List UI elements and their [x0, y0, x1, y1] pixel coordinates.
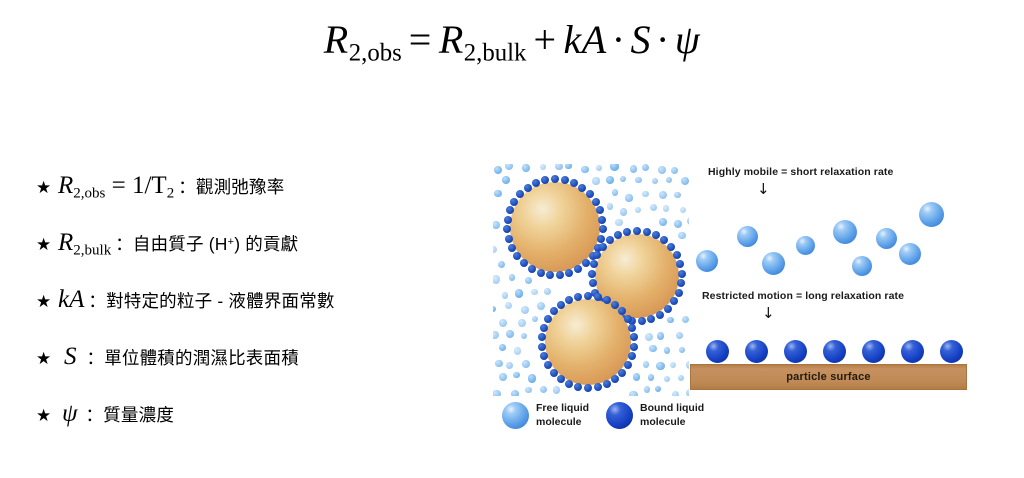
free-liquid-molecule-dot — [565, 164, 571, 169]
bound-liquid-molecule-dot — [540, 324, 548, 332]
bound-liquid-molecule-dot — [561, 176, 569, 184]
free-liquid-molecule-dot — [679, 347, 685, 353]
figure-legend: Free liquid molecule Bound liquid molecu… — [498, 398, 738, 446]
bound-liquid-molecule — [901, 340, 924, 363]
bound-liquid-molecule-dot — [594, 293, 602, 301]
free-liquid-molecule — [762, 252, 785, 275]
list-item-symbol: ψ — [58, 400, 82, 428]
bound-liquid-molecule — [745, 340, 768, 363]
free-liquid-molecule-dot — [682, 316, 689, 323]
list-item-symbol: S — [58, 343, 83, 371]
bound-liquid-molecule-dot — [670, 297, 678, 305]
free-liquid-molecule-dot — [666, 177, 673, 184]
free-liquid-molecule-dot — [687, 217, 689, 225]
bound-liquid-molecule-dot — [606, 236, 614, 244]
bound-liquid-molecule-dot — [630, 343, 638, 351]
free-liquid-molecule-dot — [642, 191, 649, 198]
free-liquid-molecule-dot — [506, 330, 514, 338]
list-item: ★ S ：單位體積的潤濕比表面積 — [36, 343, 486, 400]
list-item-description: ：質量濃度 — [86, 402, 175, 427]
free-liquid-molecule-dot — [670, 362, 676, 368]
free-liquid-molecule-dot — [525, 387, 532, 394]
bound-liquid-molecule-dot — [660, 236, 668, 244]
symbol-tail-subscript: 2 — [167, 186, 175, 202]
free-liquid-molecule-dot — [635, 177, 641, 183]
bound-molecule-icon — [606, 402, 633, 429]
bound-liquid-molecule-dot — [574, 265, 582, 273]
free-liquid-molecule-dot — [659, 218, 667, 226]
free-liquid-molecule-dot — [493, 390, 501, 396]
free-liquid-molecule-dot — [515, 289, 523, 297]
free-liquid-molecule-dot — [663, 205, 670, 212]
free-liquid-molecule-dot — [518, 319, 526, 327]
bound-liquid-molecule-dot — [618, 369, 626, 377]
bound-liquid-molecule-dot — [551, 175, 559, 183]
free-liquid-molecule-dot — [531, 289, 537, 295]
free-liquid-molecule-dot — [528, 374, 536, 382]
bullet-star-icon: ★ — [36, 293, 58, 310]
free-liquid-molecule-dot — [676, 332, 684, 340]
bound-liquid-molecule-dot — [673, 251, 681, 259]
free-liquid-molecule-dot — [674, 220, 682, 228]
bound-liquid-molecule-dot — [599, 243, 607, 251]
bound-liquid-molecule-dot — [597, 235, 605, 243]
equation-lhs-subscript: 2,obs — [349, 39, 402, 66]
free-liquid-molecule-dot — [532, 316, 538, 322]
free-liquid-molecule-dot — [581, 166, 588, 173]
list-item: ★ ψ ：質量濃度 — [36, 400, 486, 457]
equation-term-s: S — [631, 17, 652, 62]
bound-liquid-molecule-dot — [513, 252, 521, 260]
free-liquid-molecule-dot — [686, 389, 689, 396]
free-liquid-molecule-dot — [540, 164, 546, 170]
description-pre: ：自由質子 (H — [115, 234, 227, 254]
free-liquid-molecule-dot — [555, 164, 563, 170]
description-post: ) 的貢獻 — [234, 234, 298, 254]
particle-surface-bar: particle surface — [690, 364, 967, 390]
list-item-symbol: R2,obs = 1/T2 — [58, 172, 174, 203]
bound-liquid-molecule-dot — [664, 305, 672, 313]
bound-liquid-molecule-dot — [510, 198, 518, 206]
free-liquid-molecule-dot — [514, 347, 522, 355]
free-liquid-molecule-dot — [652, 178, 658, 184]
free-liquid-molecule-dot — [625, 194, 632, 201]
free-liquid-molecule-dot — [494, 166, 502, 174]
list-item-description: ：單位體積的潤濕比表面積 — [87, 345, 299, 370]
free-liquid-molecule-dot — [493, 306, 496, 312]
list-item: ★ R2,bulk ：自由質子 (H+) 的貢獻 — [36, 229, 486, 286]
free-liquid-molecule-dot — [644, 386, 650, 392]
free-liquid-molecule-dot — [525, 277, 532, 284]
bound-liquid-molecule-dot — [528, 265, 536, 273]
free-liquid-molecule-dot — [648, 374, 655, 381]
bound-liquid-molecule-dot — [578, 184, 586, 192]
bound-liquid-molecule-dot — [598, 216, 606, 224]
free-liquid-molecule-dot — [657, 332, 664, 339]
bound-liquid-molecule-dot — [557, 301, 565, 309]
free-liquid-molecule-dot — [633, 373, 641, 381]
free-liquid-molecule-dot — [674, 192, 680, 198]
bound-liquid-molecule-dot — [584, 292, 592, 300]
list-item-description: ：自由質子 (H+) 的貢獻 — [115, 231, 298, 256]
bound-liquid-molecule-dot — [676, 260, 684, 268]
down-arrow-icon-mobile: ↓ — [757, 182, 770, 197]
free-liquid-molecule-dot — [540, 386, 547, 393]
bound-liquid-molecule — [940, 340, 963, 363]
free-liquid-molecule-dot — [656, 362, 664, 370]
symbol-tail: = 1/T — [105, 172, 166, 199]
free-liquid-molecule-dot — [664, 347, 671, 354]
bound-liquid-molecule-dot — [630, 333, 638, 341]
bound-liquid-molecule-dot — [628, 324, 636, 332]
bound-liquid-molecule-dot — [638, 317, 646, 325]
free-liquid-molecule — [796, 236, 815, 255]
highly-mobile-caption: Highly mobile = short relaxation rate — [708, 166, 893, 178]
bound-liquid-molecule — [823, 340, 846, 363]
bound-liquid-molecule-dot — [550, 369, 558, 377]
bound-liquid-molecule-dot — [546, 271, 554, 279]
bound-liquid-molecule — [706, 340, 729, 363]
list-item-symbol: kA — [58, 286, 84, 314]
symbol-subscript: 2,bulk — [73, 243, 111, 259]
free-liquid-molecule-dot — [630, 165, 638, 173]
free-liquid-molecule-dot — [681, 177, 689, 185]
restricted-motion-caption: Restricted motion = long relaxation rate — [702, 290, 904, 302]
free-liquid-molecule-dot — [499, 319, 507, 327]
free-liquid-molecule — [696, 250, 718, 272]
equation-term-psi: ψ — [675, 17, 700, 62]
free-liquid-molecule — [876, 228, 897, 249]
symbol-variable: R — [58, 229, 73, 256]
equation-rhs-variable: R — [439, 17, 464, 62]
equation-dot-operator-2: · — [651, 17, 675, 62]
free-liquid-molecule-dot — [495, 360, 503, 368]
bound-liquid-molecule-dot — [643, 228, 651, 236]
free-liquid-molecule — [852, 256, 872, 276]
bound-liquid-molecule-dot — [565, 380, 573, 388]
bound-liquid-molecule-dot — [647, 315, 655, 323]
bound-liquid-molecule-dot — [589, 279, 597, 287]
free-liquid-molecule-dot — [494, 190, 502, 198]
free-liquid-molecule-dot — [649, 345, 657, 353]
list-item-symbol: R2,bulk — [58, 229, 111, 260]
free-liquid-molecule — [833, 220, 857, 244]
free-liquid-molecule-dot — [493, 246, 497, 253]
free-liquid-molecule-dot — [606, 176, 614, 184]
free-liquid-molecule-dot — [522, 164, 529, 171]
free-liquid-molecule-dot — [499, 373, 506, 380]
bound-liquid-molecule-dot — [544, 361, 552, 369]
legend-label-bound: Bound liquid molecule — [640, 402, 704, 429]
free-liquid-molecule-dot — [607, 203, 614, 210]
free-liquid-molecule-dot — [635, 207, 641, 213]
free-liquid-molecule-dot — [498, 261, 505, 268]
free-liquid-molecule-dot — [678, 375, 684, 381]
bound-liquid-molecule-dot — [594, 383, 602, 391]
bound-liquid-molecule-dot — [520, 259, 528, 267]
bullet-star-icon: ★ — [36, 236, 58, 253]
bound-liquid-molecule-dot — [667, 243, 675, 251]
free-liquid-molecule-dot — [655, 386, 661, 392]
bound-liquid-molecule-dot — [540, 352, 548, 360]
free-liquid-molecule-dot — [506, 362, 513, 369]
free-liquid-molecule-dot — [505, 164, 513, 170]
bound-liquid-molecule-dot — [675, 289, 683, 297]
bound-liquid-molecule-dot — [603, 296, 611, 304]
free-liquid-molecule-dot — [544, 288, 551, 295]
free-liquid-molecule — [737, 226, 758, 247]
bullet-star-icon: ★ — [36, 179, 58, 196]
free-liquid-molecule-dot — [612, 189, 619, 196]
bound-liquid-molecule-dot — [550, 307, 558, 315]
bound-liquid-molecule-dot — [532, 179, 540, 187]
free-liquid-molecule-dot — [493, 221, 500, 229]
free-liquid-molecule-dot — [511, 390, 519, 396]
free-liquid-molecule-dot — [642, 164, 649, 171]
free-liquid-molecule-dot — [493, 331, 499, 339]
bound-liquid-molecule-dot — [565, 269, 573, 277]
free-liquid-molecule-dot — [629, 391, 637, 396]
mobility-comparison-panel: Highly mobile = short relaxation rate ↓ … — [690, 164, 980, 396]
free-liquid-molecule-dot — [499, 344, 506, 351]
bound-liquid-molecule-dot — [524, 184, 532, 192]
free-liquid-molecule-dot — [521, 306, 529, 314]
free-liquid-molecule-dot — [659, 191, 667, 199]
free-liquid-molecule-dot — [671, 167, 678, 174]
bound-liquid-molecule-dot — [656, 311, 664, 319]
bound-liquid-molecule-dot — [586, 190, 594, 198]
relaxation-diagram: Highly mobile = short relaxation rate ↓ … — [490, 164, 980, 454]
free-liquid-molecule-dot — [620, 208, 628, 216]
free-liquid-molecule-dot — [493, 275, 500, 283]
free-liquid-molecule — [899, 243, 921, 265]
bound-liquid-molecule-dot — [537, 269, 545, 277]
bound-liquid-molecule-dot — [678, 270, 686, 278]
symbol-subscript: 2,obs — [73, 186, 105, 202]
particle-suspension-panel — [493, 164, 689, 396]
bound-liquid-molecule-dot — [652, 231, 660, 239]
equation-dot-operator-1: · — [607, 17, 631, 62]
bullet-star-icon: ★ — [36, 350, 58, 367]
symbol-variable: R — [58, 172, 73, 199]
bound-liquid-molecule-dot — [633, 227, 641, 235]
free-liquid-molecule — [919, 202, 944, 227]
free-liquid-molecule-dot — [615, 219, 623, 227]
equation-plus-sign: + — [526, 17, 563, 62]
equation-equals-sign: = — [402, 17, 439, 62]
main-equation: R2,obs=R2,bulk+kA·S·ψ — [0, 18, 1024, 67]
bound-liquid-molecule — [862, 340, 885, 363]
free-liquid-molecule-dot — [658, 166, 666, 174]
free-liquid-molecule-dot — [592, 177, 599, 184]
free-liquid-molecule-dot — [672, 391, 679, 396]
free-liquid-molecule-dot — [553, 386, 561, 394]
free-liquid-molecule-dot — [505, 302, 512, 309]
free-liquid-molecule-dot — [537, 302, 545, 310]
free-liquid-molecule-dot — [645, 333, 653, 341]
free-liquid-molecule-dot — [620, 176, 626, 182]
list-item: ★ R2,obs = 1/T2 ：觀測弛豫率 — [36, 172, 486, 229]
free-liquid-molecule-dot — [610, 164, 618, 171]
particle-surface-label: particle surface — [691, 365, 966, 389]
bound-liquid-molecule-dot — [556, 271, 564, 279]
bound-liquid-molecule-dot — [677, 279, 685, 287]
free-liquid-molecule-dot — [680, 207, 687, 214]
free-liquid-molecule-dot — [667, 317, 674, 324]
equation-lhs-variable: R — [324, 17, 349, 62]
definition-list: ★ R2,obs = 1/T2 ：觀測弛豫率 ★ R2,bulk ：自由質子 (… — [36, 172, 486, 457]
legend-label-free: Free liquid molecule — [536, 402, 589, 429]
free-liquid-molecule-dot — [596, 165, 602, 171]
bound-liquid-molecule-dot — [603, 380, 611, 388]
bound-liquid-molecule-dot — [570, 179, 578, 187]
bound-liquid-molecule-dot — [624, 315, 632, 323]
list-item-description: ：觀測弛豫率 — [178, 174, 284, 199]
free-liquid-molecule-dot — [686, 361, 689, 368]
free-liquid-molecule-dot — [664, 376, 670, 382]
legend-item-free: Free liquid molecule — [502, 402, 589, 429]
bound-liquid-molecule-dot — [624, 361, 632, 369]
bound-liquid-molecule-dot — [557, 375, 565, 383]
bound-liquid-molecule-dot — [588, 270, 596, 278]
list-item-description: ：對特定的粒子 - 液體界面常數 — [88, 288, 334, 313]
bound-liquid-molecule-dot — [505, 235, 513, 243]
bound-liquid-molecule — [784, 340, 807, 363]
free-liquid-molecule-dot — [522, 360, 530, 368]
bound-liquid-molecule-dot — [628, 352, 636, 360]
down-arrow-icon-restricted: ↓ — [762, 306, 775, 321]
free-liquid-molecule-dot — [521, 333, 527, 339]
free-liquid-molecule-dot — [502, 292, 508, 298]
free-liquid-molecule-dot — [650, 204, 657, 211]
bound-liquid-molecule-dot — [508, 244, 516, 252]
equation-rhs-subscript: 2,bulk — [464, 39, 527, 66]
bound-liquid-molecule-dot — [592, 198, 600, 206]
bound-liquid-molecule-dot — [596, 206, 604, 214]
free-liquid-molecule-dot — [509, 274, 515, 280]
bullet-star-icon: ★ — [36, 407, 58, 424]
bound-liquid-molecule-dot — [584, 384, 592, 392]
free-liquid-molecule-dot — [678, 232, 686, 240]
equation-term-ka: kA — [564, 17, 607, 62]
free-liquid-molecule-dot — [513, 372, 519, 378]
free-liquid-molecule-dot — [502, 176, 510, 184]
free-molecule-icon — [502, 402, 529, 429]
bound-liquid-molecule-dot — [611, 375, 619, 383]
free-liquid-molecule-dot — [643, 361, 649, 367]
legend-item-bound: Bound liquid molecule — [606, 402, 704, 429]
bound-liquid-molecule-dot — [590, 260, 598, 268]
list-item: ★ kA ：對特定的粒子 - 液體界面常數 — [36, 286, 486, 343]
bound-liquid-molecule-dot — [574, 383, 582, 391]
bound-liquid-molecule-dot — [599, 225, 607, 233]
bound-liquid-molecule-dot — [504, 216, 512, 224]
